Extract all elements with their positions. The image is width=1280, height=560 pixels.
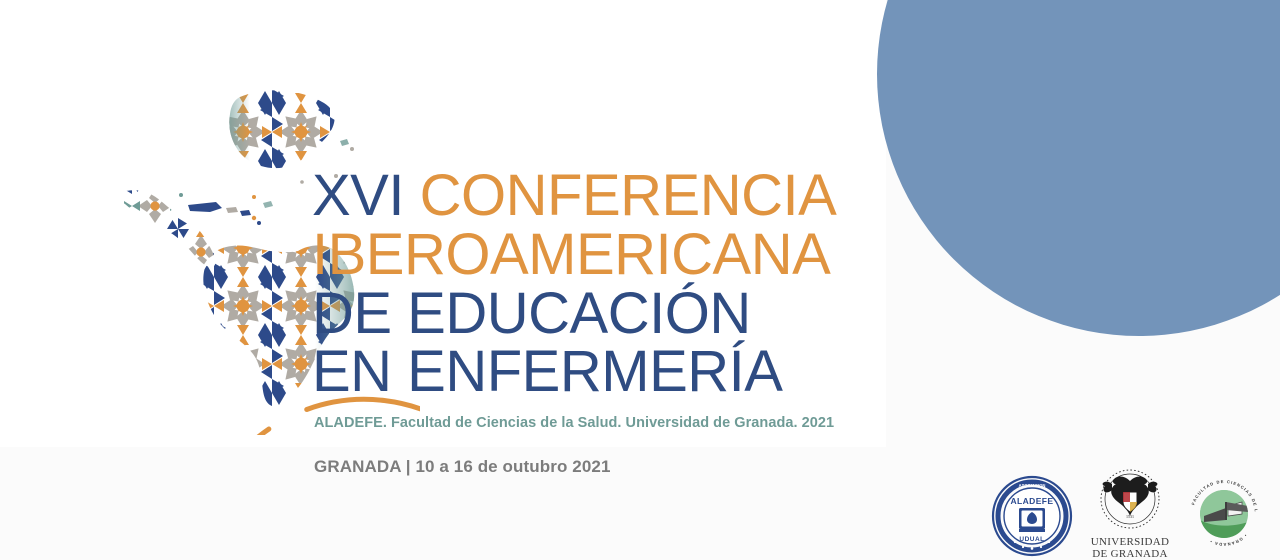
title-word-conferencia: CONFERENCIA xyxy=(420,163,837,228)
svg-text:UDUAL: UDUAL xyxy=(1019,536,1044,543)
svg-text:ALADEFE: ALADEFE xyxy=(1011,496,1054,506)
title-line-4: EN ENFERMERÍA xyxy=(312,344,872,401)
ugr-line-2: DE GRANADA xyxy=(1082,549,1178,560)
ugr-wordmark: UNIVERSIDAD DE GRANADA xyxy=(1082,537,1178,560)
svg-text:ASOCIACION: ASOCIACION xyxy=(1019,483,1046,488)
udual-label: UDUAL xyxy=(1074,474,1075,475)
title-line-3: DE EDUCACIÓN xyxy=(312,286,872,343)
logo-universidad-de-granada: 1531 UNIVERSIDAD DE GRANADA xyxy=(1082,468,1178,560)
fccs-ring-text-top: FACULTAD DE CIENCIAS DE LA SALUD xyxy=(1266,472,1267,473)
title-line-2: IBEROAMERICANA xyxy=(312,227,872,284)
sponsor-logos: ASOCIACION ALADEFE UDUAL xyxy=(990,468,1270,560)
svg-text:1531: 1531 xyxy=(1126,514,1134,519)
conference-poster: XVI CONFERENCIA IBEROAMERICANA DE EDUCAC… xyxy=(0,0,1280,560)
aladefe-label: ALADEFE xyxy=(1074,474,1075,475)
title-block: XVI CONFERENCIA IBEROAMERICANA DE EDUCAC… xyxy=(312,168,872,401)
map-central-america xyxy=(100,183,225,278)
logo-facultad-ciencias-salud: FACULTAD DE CIENCIAS DE LA SALUD • GRANA… xyxy=(1182,472,1266,560)
fccs-ring-text-bottom: GRANADA xyxy=(1266,472,1267,473)
title-line-1: XVI CONFERENCIA xyxy=(312,168,872,225)
title-roman-numeral: XVI xyxy=(312,163,404,228)
map-caribbean-islands xyxy=(179,193,261,225)
subtitle-organizers: ALADEFE. Facultad de Ciencias de la Salu… xyxy=(314,415,834,431)
logo-aladefe-udual: ASOCIACION ALADEFE UDUAL xyxy=(990,474,1074,560)
dateline-location-dates: GRANADA | 10 a 16 de outubro 2021 xyxy=(314,457,611,477)
